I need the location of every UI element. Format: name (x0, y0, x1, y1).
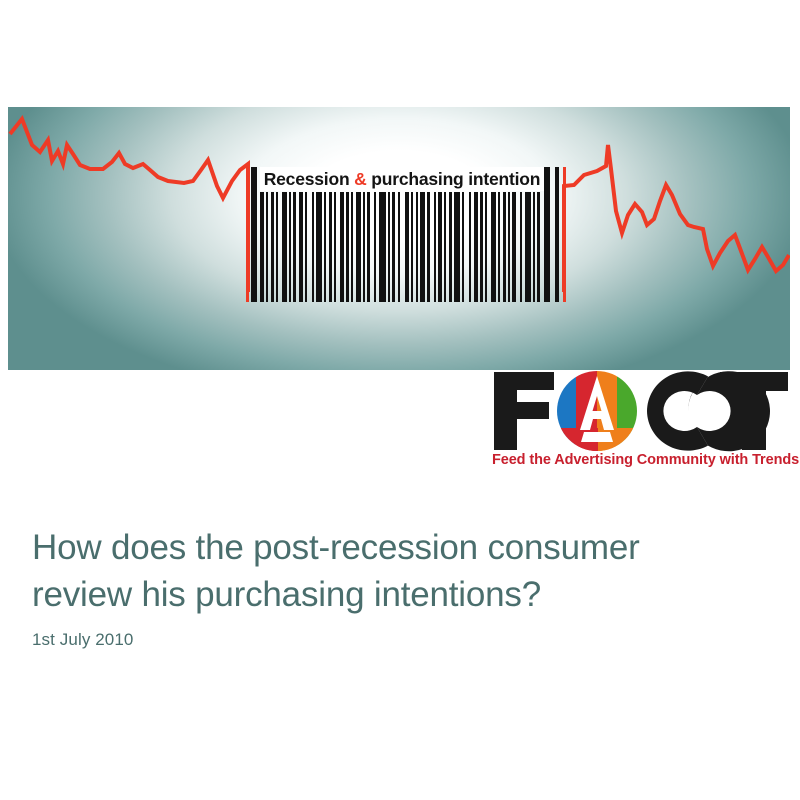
logo-letter-c-fill (647, 371, 708, 450)
slide-date: 1st July 2010 (32, 630, 133, 650)
barcode-guard-left (251, 167, 257, 302)
barcode-rail-right (563, 167, 566, 302)
barcode-graphic: Recession & purchasing intention (246, 167, 566, 302)
barcode-caption-ampersand: & (354, 169, 366, 189)
declining-trend-line-right (564, 145, 789, 292)
barcode-caption: Recession & purchasing intention (260, 167, 544, 191)
fact-logo: Feed the Advertising Community with Tren… (492, 370, 790, 474)
barcode-rail-left (246, 167, 249, 302)
logo-letter-f (494, 372, 554, 450)
fact-logo-tagline: Feed the Advertising Community with Tren… (492, 452, 790, 468)
barcode-guard-right (544, 167, 550, 302)
barcode-caption-head: Recession (264, 169, 354, 189)
barcode-guard-right2 (555, 167, 559, 302)
logo-letter-a-mark (554, 371, 640, 452)
page-title: How does the post-recession consumer rev… (32, 524, 762, 618)
barcode-caption-tail: purchasing intention (367, 169, 541, 189)
declining-trend-line-left (10, 119, 248, 292)
page-title-line-1: How does the post-recession consumer (32, 524, 762, 571)
fact-logo-mark (492, 370, 790, 452)
barcode-bars (260, 192, 542, 302)
page-title-line-2: review his purchasing intentions? (32, 571, 762, 618)
hero-banner: Recession & purchasing intention (8, 107, 790, 370)
